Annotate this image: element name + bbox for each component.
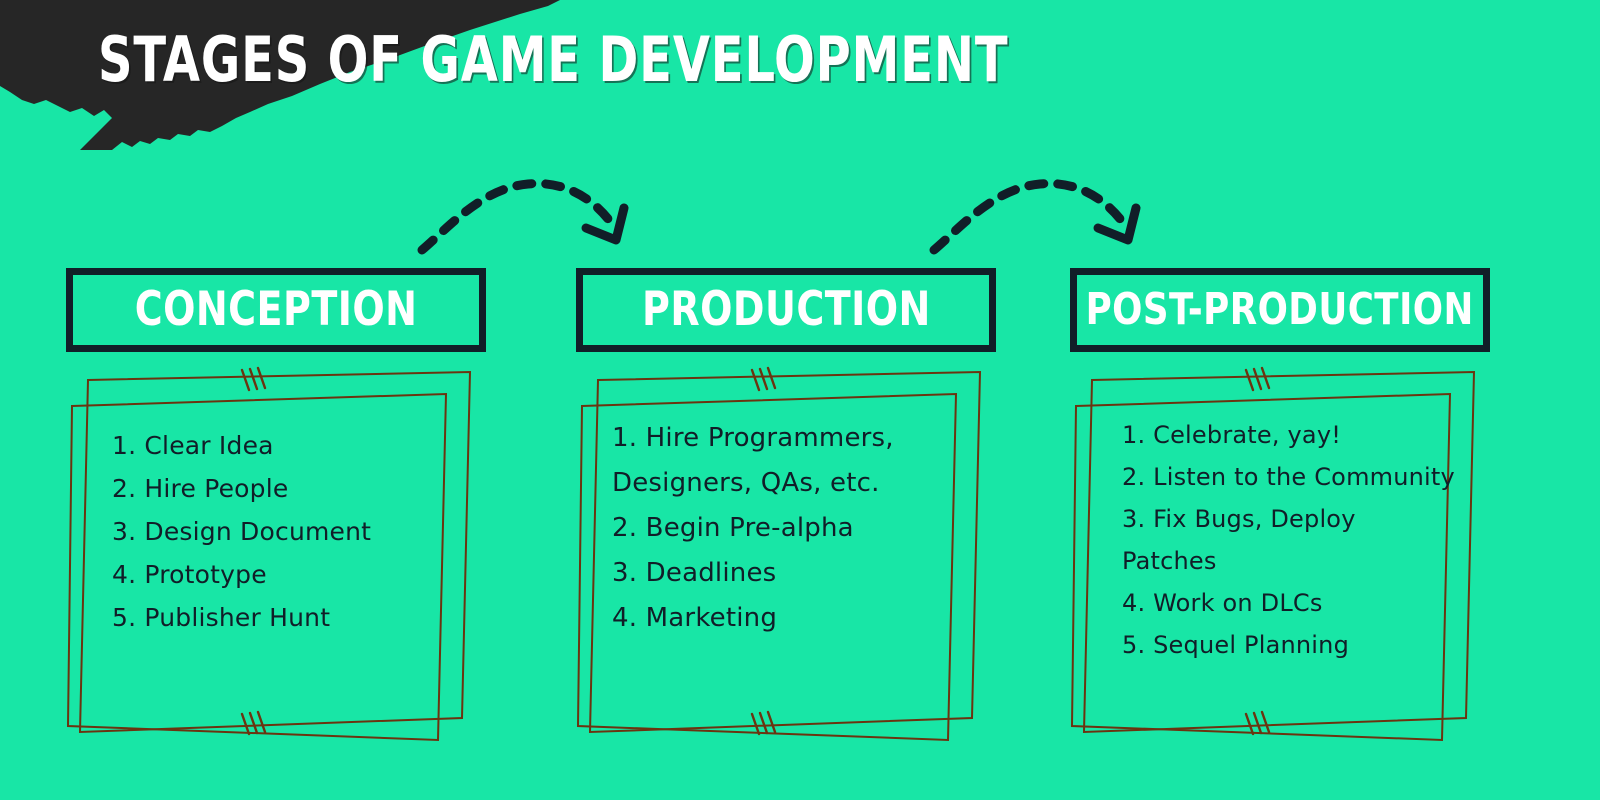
list-item: 4. Marketing <box>612 596 957 641</box>
stage-column-production: PRODUCTION 1. Hire Programmers, Designer… <box>576 268 996 352</box>
list-item: 2. Listen to the Community <box>1122 456 1457 498</box>
stage-header-label: CONCEPTION <box>135 285 418 335</box>
stage-header-box-conception[interactable]: CONCEPTION <box>66 268 486 352</box>
stage-list-production: 1. Hire Programmers, Designers, QAs, etc… <box>612 416 957 641</box>
list-item: 2. Hire People <box>112 467 442 510</box>
list-item: 2. Begin Pre-alpha <box>612 506 957 551</box>
list-item: 5. Publisher Hunt <box>112 596 442 639</box>
list-item: 3. Design Document <box>112 510 442 553</box>
sketch-frame-production: 1. Hire Programmers, Designers, QAs, etc… <box>576 368 996 768</box>
stage-list-post-production: 1. Celebrate, yay! 2. Listen to the Comm… <box>1122 414 1457 666</box>
stage-column-conception: CONCEPTION 1. Clear Idea 2. Hire People <box>66 268 486 352</box>
stage-header-label: PRODUCTION <box>642 285 931 335</box>
stage-header-label: POST-PRODUCTION <box>1086 285 1474 335</box>
infographic-poster: STAGES OF GAME DEVELOPMENT CONCEPTION <box>0 0 1600 800</box>
stage-list-conception: 1. Clear Idea 2. Hire People 3. Design D… <box>112 424 442 639</box>
list-item: 3. Fix Bugs, Deploy Patches <box>1122 498 1457 582</box>
stage-header-box-production[interactable]: PRODUCTION <box>576 268 996 352</box>
list-item: 5. Sequel Planning <box>1122 624 1457 666</box>
list-item: 4. Prototype <box>112 553 442 596</box>
stages-container: CONCEPTION 1. Clear Idea 2. Hire People <box>0 0 1600 800</box>
list-item: 1. Hire Programmers, Designers, QAs, etc… <box>612 416 957 506</box>
list-item: 1. Celebrate, yay! <box>1122 414 1457 456</box>
stage-header-box-post-production[interactable]: POST-PRODUCTION <box>1070 268 1490 352</box>
list-item: 3. Deadlines <box>612 551 957 596</box>
list-item: 1. Clear Idea <box>112 424 442 467</box>
sketch-frame-post-production: 1. Celebrate, yay! 2. Listen to the Comm… <box>1070 368 1490 768</box>
stage-column-post-production: POST-PRODUCTION 1. Celebrate, yay! 2. Li… <box>1070 268 1490 352</box>
sketch-frame-conception: 1. Clear Idea 2. Hire People 3. Design D… <box>66 368 486 768</box>
list-item: 4. Work on DLCs <box>1122 582 1457 624</box>
